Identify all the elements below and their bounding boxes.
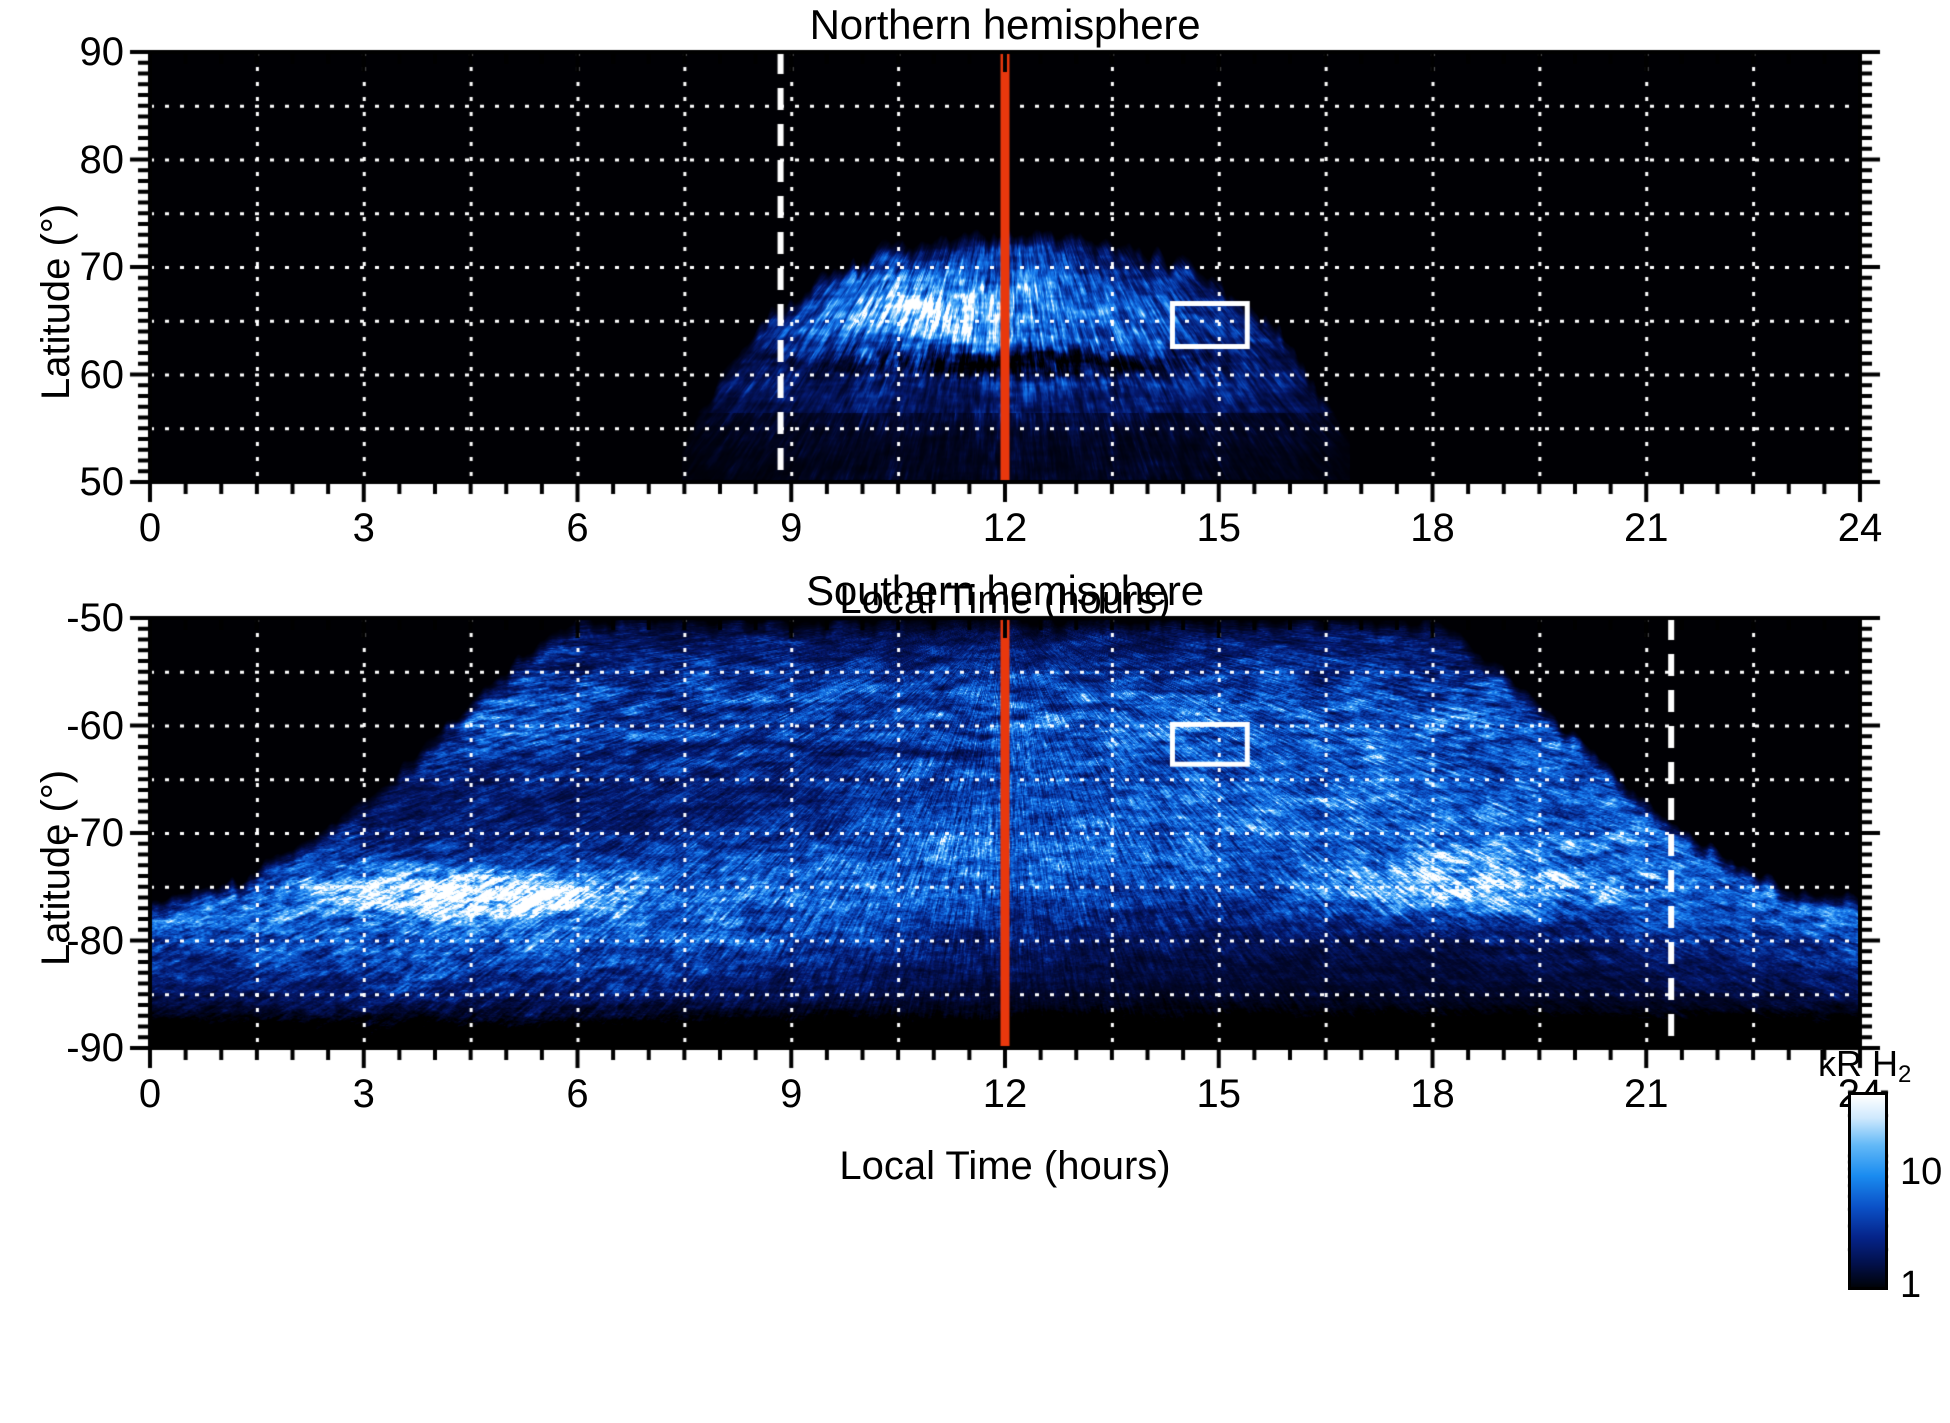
x-tick-label-south-9: 9 bbox=[731, 1074, 851, 1114]
panel-title-south: Southern hemisphere bbox=[150, 570, 1860, 612]
colorbar-tick-10: 10 bbox=[1900, 1153, 1942, 1191]
x-tick-label-north-6: 6 bbox=[518, 508, 638, 548]
x-tick-label-north-9: 9 bbox=[731, 508, 851, 548]
heatmap-canvas-south bbox=[150, 618, 1860, 1048]
heatmap-panel-south bbox=[150, 618, 1860, 1048]
x-tick-label-north-0: 0 bbox=[90, 508, 210, 548]
x-tick-label-north-15: 15 bbox=[1159, 508, 1279, 548]
figure-root: Northern hemisphere Latitude (°) Local T… bbox=[0, 0, 1950, 1423]
colorbar-tick-1: 1 bbox=[1900, 1266, 1921, 1304]
x-tick-label-south-18: 18 bbox=[1373, 1074, 1493, 1114]
heatmap-panel-north bbox=[150, 52, 1860, 482]
x-axis-label-south: Local Time (hours) bbox=[150, 1146, 1860, 1186]
x-tick-label-south-3: 3 bbox=[304, 1074, 424, 1114]
x-tick-label-south-21: 21 bbox=[1586, 1074, 1706, 1114]
y-tick-label-north-70: 70 bbox=[4, 247, 124, 287]
y-tick-label-south--70: -70 bbox=[4, 813, 124, 853]
x-tick-label-north-18: 18 bbox=[1373, 508, 1493, 548]
x-tick-label-south-15: 15 bbox=[1159, 1074, 1279, 1114]
colorbar-title: kR H2 bbox=[1818, 1046, 1911, 1087]
x-tick-label-north-21: 21 bbox=[1586, 508, 1706, 548]
colorbar bbox=[1848, 1092, 1888, 1290]
colorbar-title-subscript: 2 bbox=[1898, 1061, 1911, 1088]
y-tick-label-south--90: -90 bbox=[4, 1028, 124, 1068]
y-tick-label-north-90: 90 bbox=[4, 32, 124, 72]
x-tick-label-south-6: 6 bbox=[518, 1074, 638, 1114]
y-tick-label-north-80: 80 bbox=[4, 140, 124, 180]
x-tick-label-north-3: 3 bbox=[304, 508, 424, 548]
x-tick-label-south-12: 12 bbox=[945, 1074, 1065, 1114]
heatmap-canvas-north bbox=[150, 52, 1860, 482]
y-tick-label-south--50: -50 bbox=[4, 598, 124, 638]
y-tick-label-south--60: -60 bbox=[4, 706, 124, 746]
x-tick-label-north-12: 12 bbox=[945, 508, 1065, 548]
colorbar-gradient bbox=[1848, 1092, 1888, 1290]
y-tick-label-north-50: 50 bbox=[4, 462, 124, 502]
x-tick-label-north-24: 24 bbox=[1800, 508, 1920, 548]
panel-title-north: Northern hemisphere bbox=[150, 4, 1860, 46]
colorbar-title-text: kR H bbox=[1818, 1043, 1898, 1084]
y-tick-label-north-60: 60 bbox=[4, 355, 124, 395]
x-tick-label-south-0: 0 bbox=[90, 1074, 210, 1114]
y-tick-label-south--80: -80 bbox=[4, 921, 124, 961]
